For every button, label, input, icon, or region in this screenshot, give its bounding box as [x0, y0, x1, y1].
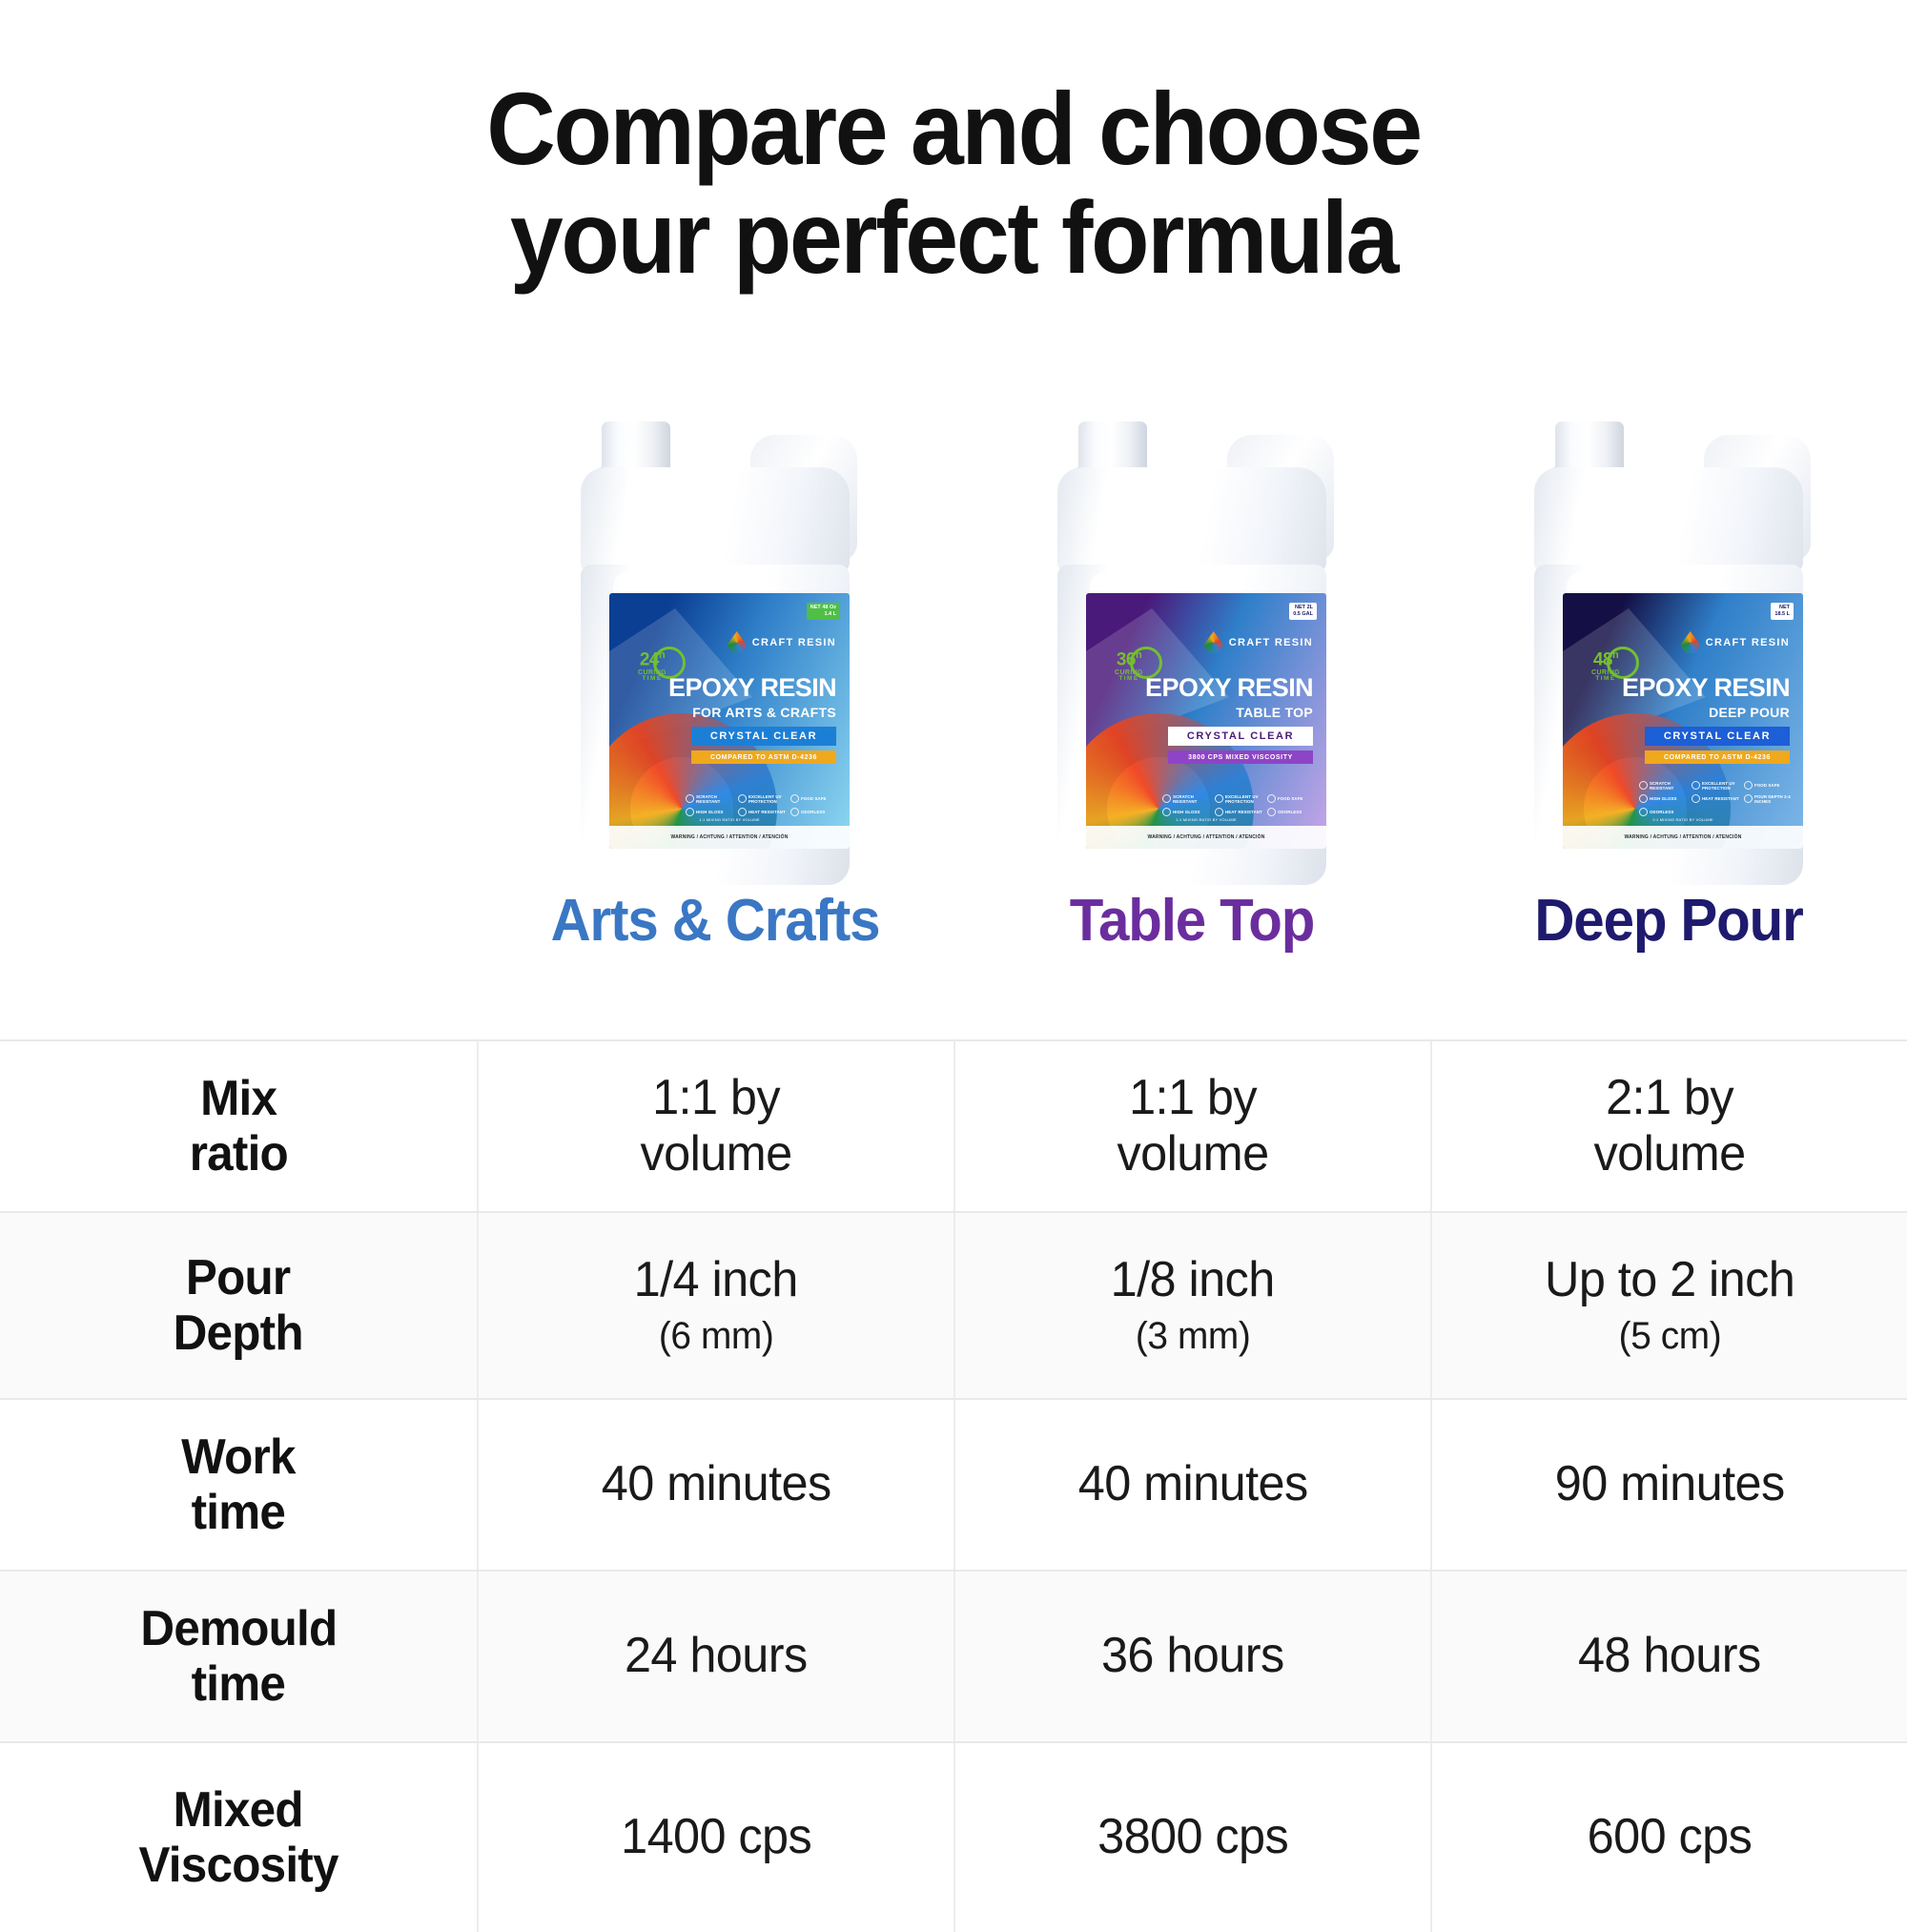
- label-feature-item: HIGH GLOSS: [1162, 808, 1212, 816]
- feature-label: EXCELLENT UV PROTECTION: [748, 794, 788, 804]
- cell-value-line-1: 1400 cps: [621, 1809, 811, 1865]
- row-label-line-2: Viscosity: [138, 1838, 338, 1893]
- cell-value-line-2: volume: [640, 1126, 791, 1182]
- row-label-line-1: Mixed: [174, 1782, 303, 1838]
- label-feature-grid: SCRATCH RESISTANTEXCELLENT UV PROTECTION…: [686, 794, 840, 816]
- bottle-table-top: NET 2L 0.5 GAL 36h CURING TIME CRAFT RES…: [1044, 421, 1340, 889]
- row-label-line-1: Mix: [200, 1071, 277, 1126]
- net-volume-label: NET 48 Oz: [810, 605, 836, 610]
- feature-check-icon: [1215, 794, 1223, 803]
- feature-check-icon: [790, 808, 799, 816]
- feature-label: HIGH GLOSS: [1650, 796, 1677, 801]
- feature-check-icon: [1215, 808, 1223, 816]
- label-feature-item: SCRATCH RESISTANT: [1162, 794, 1212, 804]
- feature-check-icon: [686, 794, 694, 803]
- cell-demould-time-deep-pour: 48 hours: [1430, 1572, 1907, 1741]
- label-feature-grid: SCRATCH RESISTANTEXCELLENT UV PROTECTION…: [1639, 781, 1794, 816]
- table-row-mixed-viscosity: Mixed Viscosity 1400 cps 3800 cps 600 cp…: [0, 1741, 1907, 1932]
- bottle-shoulder: [581, 467, 850, 572]
- product-label-deep-pour: NET 18.5 L 48h CURING TIME CRAFT RESIN: [1563, 593, 1803, 849]
- row-label-line-1: Work: [181, 1429, 296, 1485]
- label-compliance-bar: COMPARED TO ASTM D-4236: [691, 750, 836, 764]
- page-title: Compare and choose your perfect formula: [0, 74, 1907, 293]
- bottle-shoulder: [1534, 467, 1803, 572]
- bottle-cap-icon: [602, 421, 670, 471]
- table-row-mix-ratio: Mix ratio 1:1 by volume 1:1 by volume 2:…: [0, 1039, 1907, 1211]
- cell-value-line-1: 1:1 by: [1129, 1070, 1257, 1126]
- feature-check-icon: [686, 808, 694, 816]
- table-row-work-time: Work time 40 minutes 40 minutes 90 minut…: [0, 1398, 1907, 1570]
- row-label-line-2: ratio: [189, 1126, 287, 1182]
- cell-value-line-1: 48 hours: [1578, 1628, 1761, 1684]
- feature-check-icon: [1744, 794, 1753, 803]
- feature-check-icon: [1267, 808, 1276, 816]
- cell-value-line-1: 1/4 inch: [634, 1252, 798, 1308]
- column-heading-deep-pour: Deep Pour: [1445, 887, 1893, 992]
- product-headings-row: Arts & Crafts Table Top Deep Pour: [0, 887, 1907, 992]
- label-product-name: EPOXY RESIN: [1622, 675, 1790, 701]
- row-label-cell: Work time: [0, 1400, 477, 1570]
- row-label-cell: Pour Depth: [0, 1213, 477, 1398]
- cell-pour-depth-deep-pour: Up to 2 inch (5 cm): [1430, 1213, 1907, 1398]
- cell-pour-depth-arts-crafts: 1/4 inch (6 mm): [477, 1213, 953, 1398]
- label-feature-grid: SCRATCH RESISTANTEXCELLENT UV PROTECTION…: [1162, 794, 1317, 816]
- label-feature-item: FOOD SAFE: [1267, 794, 1317, 804]
- feature-check-icon: [1744, 781, 1753, 790]
- label-feature-item: POUR DEPTH 2-4 INCHES: [1744, 794, 1794, 804]
- label-product-variant: FOR ARTS & CRAFTS: [692, 705, 836, 720]
- row-label-line-2: Depth: [174, 1305, 303, 1361]
- label-warning-bar: WARNING / ACHTUNG / ATTENTION / ATENCIÓN: [1086, 826, 1326, 849]
- row-label-cell: Demould time: [0, 1572, 477, 1741]
- feature-label: SCRATCH RESISTANT: [696, 794, 735, 804]
- net-volume-value: 0.5 GAL: [1293, 611, 1313, 617]
- cell-work-time-table-top: 40 minutes: [953, 1400, 1430, 1570]
- cell-mixed-viscosity-table-top: 3800 cps: [953, 1743, 1430, 1932]
- label-feature-item: FOOD SAFE: [1744, 781, 1794, 791]
- cell-value-line-1: 40 minutes: [602, 1456, 831, 1512]
- cell-mixed-viscosity-deep-pour: 600 cps: [1430, 1743, 1907, 1932]
- brand-lockup: CRAFT RESIN: [728, 631, 836, 654]
- bottle-body: NET 18.5 L 48h CURING TIME CRAFT RESIN: [1534, 565, 1803, 885]
- label-clarity-bar: CRYSTAL CLEAR: [691, 727, 836, 746]
- column-heading-table-top: Table Top: [968, 887, 1416, 992]
- row-label-cell: Mixed Viscosity: [0, 1743, 477, 1932]
- feature-label: HEAT RESISTANT: [1702, 796, 1739, 801]
- cell-value-line-1: 600 cps: [1588, 1809, 1753, 1865]
- curing-label-2: TIME: [1595, 676, 1615, 683]
- label-compliance-bar: 3800 CPS MIXED VISCOSITY: [1168, 750, 1313, 764]
- table-row-demould-time: Demould time 24 hours 36 hours 48 hours: [0, 1570, 1907, 1741]
- label-clarity-bar: CRYSTAL CLEAR: [1168, 727, 1313, 746]
- feature-label: HEAT RESISTANT: [748, 810, 786, 814]
- feature-check-icon: [1639, 808, 1648, 816]
- label-feature-item: EXCELLENT UV PROTECTION: [738, 794, 788, 804]
- product-label-table-top: NET 2L 0.5 GAL 36h CURING TIME CRAFT RES…: [1086, 593, 1326, 849]
- label-product-variant: TABLE TOP: [1236, 705, 1313, 720]
- label-mix-ratio-note: 2:1 MIXING RATIO BY VOLUME: [1563, 817, 1803, 826]
- bottle-cap-icon: [1555, 421, 1624, 471]
- label-mix-ratio-note: 1:1 MIXING RATIO BY VOLUME: [1086, 817, 1326, 826]
- cell-work-time-arts-crafts: 40 minutes: [477, 1400, 953, 1570]
- comparison-table: Mix ratio 1:1 by volume 1:1 by volume 2:…: [0, 1039, 1907, 1932]
- row-label-line-1: Demould: [140, 1601, 337, 1656]
- label-feature-item: HIGH GLOSS: [686, 808, 735, 816]
- comparison-infographic: Compare and choose your perfect formula …: [0, 0, 1907, 1907]
- feature-label: HIGH GLOSS: [1173, 810, 1200, 814]
- label-feature-item: FOOD SAFE: [790, 794, 840, 804]
- bottle-arts-crafts: NET 48 Oz 1.4 L 24h CURING TIME CRAFT RE…: [567, 421, 863, 889]
- feature-label: SCRATCH RESISTANT: [1650, 781, 1689, 791]
- cell-mixed-viscosity-arts-crafts: 1400 cps: [477, 1743, 953, 1932]
- product-cell-table-top: NET 2L 0.5 GAL 36h CURING TIME CRAFT RES…: [953, 355, 1430, 889]
- cell-value-line-1: 36 hours: [1101, 1628, 1284, 1684]
- net-volume-box: NET 48 Oz 1.4 L: [807, 603, 840, 620]
- brand-lockup: CRAFT RESIN: [1204, 631, 1313, 654]
- net-volume-value: 1.4 L: [824, 611, 836, 617]
- product-label-arts-crafts: NET 48 Oz 1.4 L 24h CURING TIME CRAFT RE…: [609, 593, 850, 849]
- feature-label: HEAT RESISTANT: [1225, 810, 1262, 814]
- net-volume-value: 18.5 L: [1774, 611, 1790, 617]
- net-volume-box: NET 2L 0.5 GAL: [1289, 603, 1317, 620]
- feature-check-icon: [1162, 808, 1171, 816]
- label-feature-item: EXCELLENT UV PROTECTION: [1215, 794, 1264, 804]
- feature-label: EXCELLENT UV PROTECTION: [1225, 794, 1264, 804]
- net-volume-box: NET 18.5 L: [1771, 603, 1794, 620]
- label-clarity-bar: CRYSTAL CLEAR: [1645, 727, 1790, 746]
- net-volume-label: NET 2L: [1295, 605, 1313, 610]
- label-feature-item: ODORLESS: [790, 808, 840, 816]
- label-compliance-bar: COMPARED TO ASTM D-4236: [1645, 750, 1790, 764]
- product-cell-deep-pour: NET 18.5 L 48h CURING TIME CRAFT RESIN: [1430, 355, 1907, 889]
- resin-drop-logo-icon: [728, 631, 747, 654]
- cell-demould-time-table-top: 36 hours: [953, 1572, 1430, 1741]
- cell-value-line-1: 1:1 by: [652, 1070, 780, 1126]
- curing-label-2: TIME: [1118, 676, 1138, 683]
- feature-label: ODORLESS: [1650, 810, 1673, 814]
- row-label-line-1: Pour: [186, 1250, 290, 1305]
- product-cell-arts-crafts: NET 48 Oz 1.4 L 24h CURING TIME CRAFT RE…: [477, 355, 953, 889]
- cell-mix-ratio-deep-pour: 2:1 by volume: [1430, 1041, 1907, 1211]
- feature-check-icon: [738, 808, 747, 816]
- resin-drop-logo-icon: [1204, 631, 1223, 654]
- feature-label: ODORLESS: [801, 810, 825, 814]
- row-label-cell: Mix ratio: [0, 1041, 477, 1211]
- cell-value-line-1: 2:1 by: [1606, 1070, 1733, 1126]
- feature-check-icon: [1692, 781, 1700, 790]
- column-heading-arts-crafts: Arts & Crafts: [491, 887, 939, 992]
- feature-label: EXCELLENT UV PROTECTION: [1702, 781, 1741, 791]
- bottle-deep-pour: NET 18.5 L 48h CURING TIME CRAFT RESIN: [1521, 421, 1816, 889]
- cell-value-sub: (5 cm): [1618, 1313, 1721, 1359]
- cell-pour-depth-table-top: 1/8 inch (3 mm): [953, 1213, 1430, 1398]
- bottle-cap-icon: [1078, 421, 1147, 471]
- label-product-name: EPOXY RESIN: [1145, 675, 1313, 701]
- cell-value-line-1: 24 hours: [625, 1628, 808, 1684]
- feature-label: HIGH GLOSS: [696, 810, 724, 814]
- curing-label-2: TIME: [642, 676, 662, 683]
- cell-mix-ratio-table-top: 1:1 by volume: [953, 1041, 1430, 1211]
- feature-check-icon: [738, 794, 747, 803]
- cell-value-line-1: 40 minutes: [1078, 1456, 1308, 1512]
- cell-work-time-deep-pour: 90 minutes: [1430, 1400, 1907, 1570]
- feature-check-icon: [1267, 794, 1276, 803]
- cell-value-line-1: Up to 2 inch: [1545, 1252, 1794, 1308]
- cell-mix-ratio-arts-crafts: 1:1 by volume: [477, 1041, 953, 1211]
- cell-value-line-1: 1/8 inch: [1111, 1252, 1275, 1308]
- bottle-shoulder: [1057, 467, 1326, 572]
- label-feature-item: EXCELLENT UV PROTECTION: [1692, 781, 1741, 791]
- row-label-line-2: time: [192, 1656, 286, 1712]
- label-feature-item: SCRATCH RESISTANT: [686, 794, 735, 804]
- page-title-line-2: your perfect formula: [67, 183, 1840, 292]
- row-label-line-2: time: [192, 1485, 286, 1540]
- feature-label: FOOD SAFE: [1754, 783, 1780, 788]
- table-row-pour-depth: Pour Depth 1/4 inch (6 mm) 1/8 inch (3 m…: [0, 1211, 1907, 1398]
- label-feature-item: HEAT RESISTANT: [1692, 794, 1741, 804]
- cell-value-line-2: volume: [1593, 1126, 1745, 1182]
- feature-label: POUR DEPTH 2-4 INCHES: [1754, 794, 1794, 804]
- label-product-variant: DEEP POUR: [1709, 705, 1790, 720]
- brand-name: CRAFT RESIN: [752, 637, 836, 648]
- bottle-body: NET 48 Oz 1.4 L 24h CURING TIME CRAFT RE…: [581, 565, 850, 885]
- label-mix-ratio-note: 1:1 MIXING RATIO BY VOLUME: [609, 817, 850, 826]
- label-product-name: EPOXY RESIN: [668, 675, 836, 701]
- feature-check-icon: [1639, 781, 1648, 790]
- net-volume-label: NET: [1779, 605, 1790, 610]
- label-feature-item: HEAT RESISTANT: [738, 808, 788, 816]
- label-warning-bar: WARNING / ACHTUNG / ATTENTION / ATENCIÓN: [609, 826, 850, 849]
- feature-check-icon: [1639, 794, 1648, 803]
- feature-check-icon: [1162, 794, 1171, 803]
- label-feature-item: ODORLESS: [1639, 808, 1689, 816]
- cell-value-sub: (3 mm): [1136, 1313, 1251, 1359]
- resin-drop-logo-icon: [1681, 631, 1700, 654]
- page-title-line-1: Compare and choose: [67, 74, 1840, 183]
- feature-check-icon: [1692, 794, 1700, 803]
- cell-value-line-2: volume: [1117, 1126, 1268, 1182]
- cell-value-line-1: 90 minutes: [1555, 1456, 1785, 1512]
- brand-name: CRAFT RESIN: [1706, 637, 1790, 648]
- feature-label: SCRATCH RESISTANT: [1173, 794, 1212, 804]
- feature-label: ODORLESS: [1278, 810, 1302, 814]
- cell-value-line-1: 3800 cps: [1097, 1809, 1288, 1865]
- label-feature-item: SCRATCH RESISTANT: [1639, 781, 1689, 791]
- cell-demould-time-arts-crafts: 24 hours: [477, 1572, 953, 1741]
- label-feature-item: ODORLESS: [1267, 808, 1317, 816]
- label-feature-item: HEAT RESISTANT: [1215, 808, 1264, 816]
- feature-label: FOOD SAFE: [801, 796, 827, 801]
- cell-value-sub: (6 mm): [659, 1313, 774, 1359]
- brand-name: CRAFT RESIN: [1229, 637, 1313, 648]
- feature-check-icon: [790, 794, 799, 803]
- product-images-row: NET 48 Oz 1.4 L 24h CURING TIME CRAFT RE…: [0, 355, 1907, 889]
- brand-lockup: CRAFT RESIN: [1681, 631, 1790, 654]
- label-feature-item: HIGH GLOSS: [1639, 794, 1689, 804]
- bottle-body: NET 2L 0.5 GAL 36h CURING TIME CRAFT RES…: [1057, 565, 1326, 885]
- feature-label: FOOD SAFE: [1278, 796, 1303, 801]
- label-warning-bar: WARNING / ACHTUNG / ATTENTION / ATENCIÓN: [1563, 826, 1803, 849]
